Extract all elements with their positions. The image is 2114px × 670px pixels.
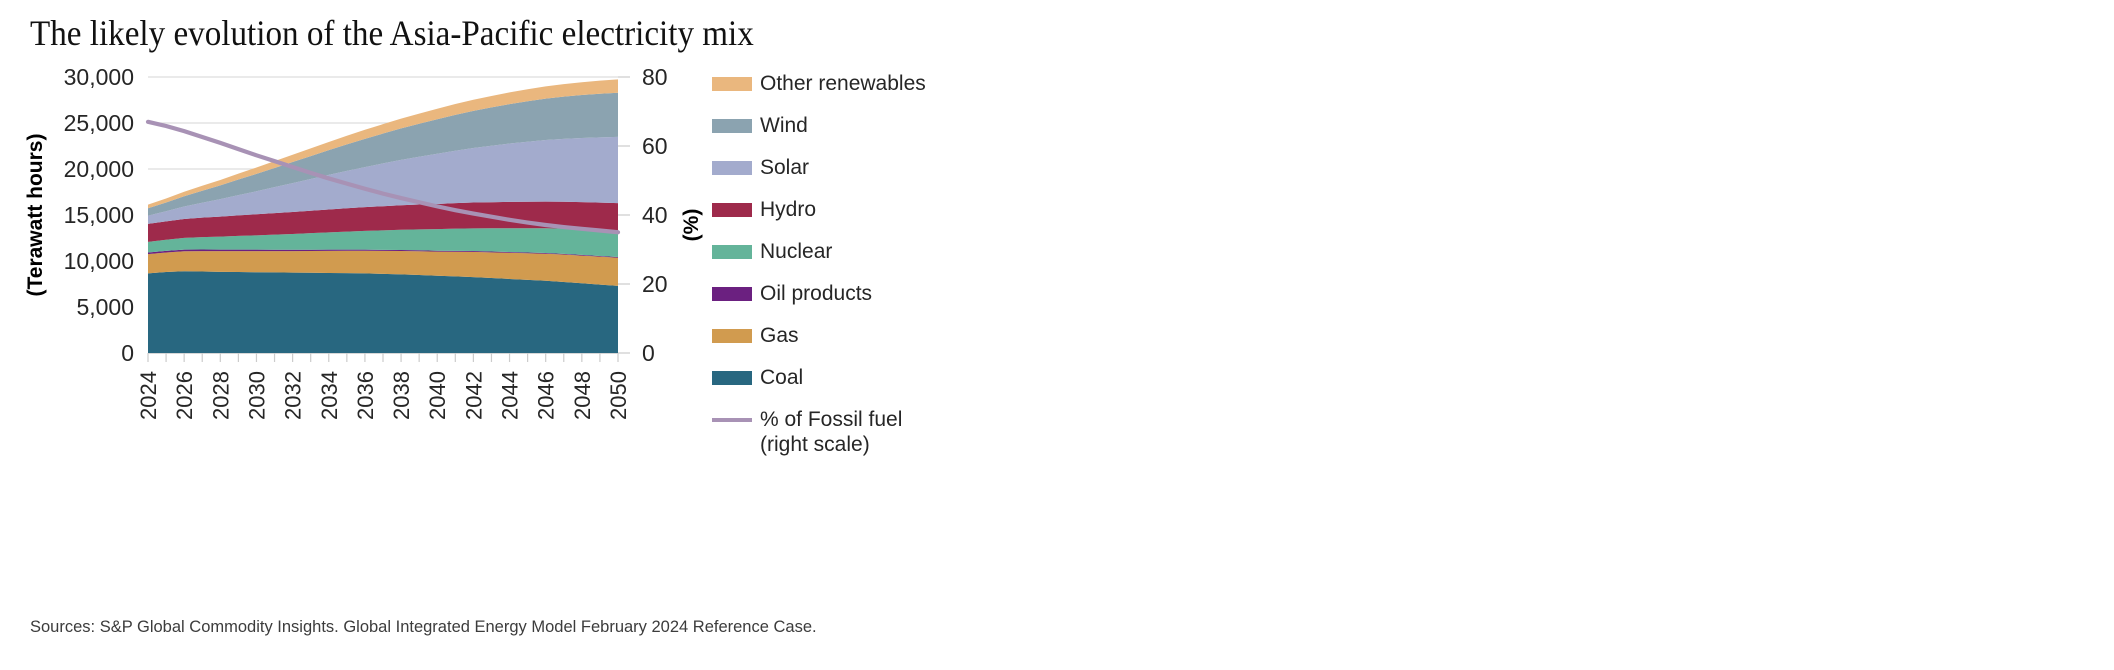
y2-axis-title: (%) <box>680 209 703 242</box>
legend-swatch <box>712 245 752 259</box>
x-tick-label: 2026 <box>172 371 197 420</box>
y-tick-label: 15,000 <box>64 202 134 228</box>
electricity-mix-svg: 05,00010,00015,00020,00025,00030,0000204… <box>0 55 1057 600</box>
y2-tick-label: 60 <box>642 133 668 159</box>
y-tick-label: 30,000 <box>64 64 134 90</box>
dual-chart-figure: The likely evolution of the Asia-Pacific… <box>0 0 2114 670</box>
y-axis-title: (Terawatt hours) <box>24 134 47 297</box>
legend-swatch <box>712 329 752 343</box>
legend-label[interactable]: Hydro <box>760 198 816 221</box>
y-tick-label: 25,000 <box>64 110 134 136</box>
legend-label[interactable]: Nuclear <box>760 240 832 263</box>
legend-label[interactable]: Gas <box>760 324 799 347</box>
legend-label[interactable]: Wind <box>760 114 808 137</box>
electricity-mix-chart: 05,00010,00015,00020,00025,00030,0000204… <box>0 55 850 595</box>
y2-tick-label: 80 <box>642 64 668 90</box>
x-tick-label: 2030 <box>244 371 269 420</box>
legend-label[interactable]: Other renewables <box>760 72 926 95</box>
legend-label[interactable]: Oil products <box>760 282 872 305</box>
x-tick-label: 2038 <box>389 371 414 420</box>
legend-swatch <box>712 161 752 175</box>
x-tick-label: 2032 <box>281 371 306 420</box>
x-tick-label: 2034 <box>317 371 342 420</box>
left-source-note: Sources: S&P Global Commodity Insights. … <box>30 618 817 637</box>
x-tick-label: 2044 <box>498 371 523 420</box>
legend-swatch <box>712 77 752 91</box>
legend-label[interactable]: Solar <box>760 156 809 179</box>
right-panel: The likely evolution of Asia-Pacific emi… <box>1057 0 2114 670</box>
x-tick-label: 2042 <box>461 371 486 420</box>
x-tick-label: 2040 <box>425 371 450 420</box>
x-tick-label: 2046 <box>534 371 559 420</box>
x-tick-label: 2028 <box>208 371 233 420</box>
legend-label[interactable]: % of Fossil fuel <box>760 408 902 431</box>
x-tick-label: 2036 <box>353 371 378 420</box>
left-chart-title: The likely evolution of the Asia-Pacific… <box>30 12 754 54</box>
y2-tick-label: 0 <box>642 340 655 366</box>
y-tick-label: 20,000 <box>64 156 134 182</box>
legend-swatch <box>712 119 752 133</box>
x-tick-label: 2024 <box>136 371 161 420</box>
x-tick-label: 2048 <box>570 371 595 420</box>
legend-swatch <box>712 287 752 301</box>
y2-tick-label: 20 <box>642 271 668 297</box>
y-tick-label: 10,000 <box>64 248 134 274</box>
x-tick-label: 2050 <box>606 371 631 420</box>
legend-swatch <box>712 203 752 217</box>
area-coal <box>148 271 618 353</box>
y-tick-label: 5,000 <box>76 294 134 320</box>
y-tick-label: 0 <box>121 340 134 366</box>
legend-swatch <box>712 371 752 385</box>
y2-tick-label: 40 <box>642 202 668 228</box>
legend-label-second-line: (right scale) <box>760 433 870 456</box>
left-panel: The likely evolution of the Asia-Pacific… <box>0 0 1057 670</box>
legend-label[interactable]: Coal <box>760 366 803 389</box>
